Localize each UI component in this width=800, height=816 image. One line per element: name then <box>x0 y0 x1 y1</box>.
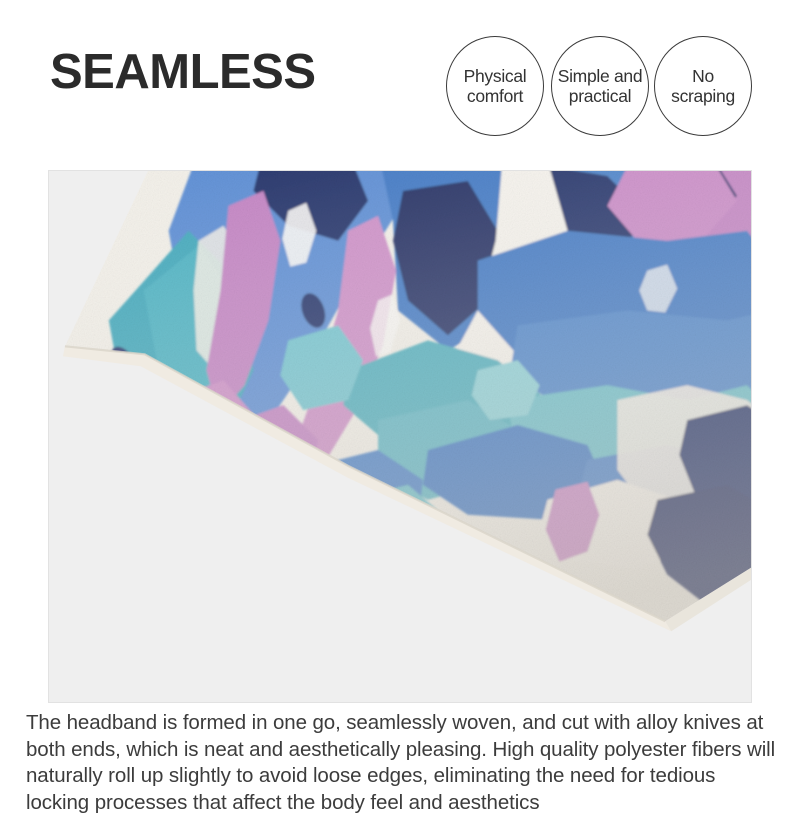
badge-label-line2: scraping <box>671 86 735 106</box>
product-photo-frame <box>48 170 752 703</box>
badge-label-line1: Physical <box>464 66 527 86</box>
badge-simple-and-practical: Simple and practical <box>551 36 649 136</box>
product-photo-camouflage-fabric <box>49 171 751 702</box>
product-description: The headband is formed in one go, seamle… <box>26 710 781 816</box>
page-title: SEAMLESS <box>50 44 316 100</box>
badge-label-line1: Simple and <box>558 66 643 86</box>
badge-label-line2: comfort <box>467 86 523 106</box>
badge-no-scraping: No scraping <box>654 36 752 136</box>
badge-label-line1: No <box>692 66 714 86</box>
feature-badge-row: Physical comfort Simple and practical No… <box>446 36 756 138</box>
badge-label-line2: practical <box>569 86 631 106</box>
header-section: SEAMLESS Physical comfort Simple and pra… <box>0 0 800 160</box>
badge-physical-comfort: Physical comfort <box>446 36 544 136</box>
